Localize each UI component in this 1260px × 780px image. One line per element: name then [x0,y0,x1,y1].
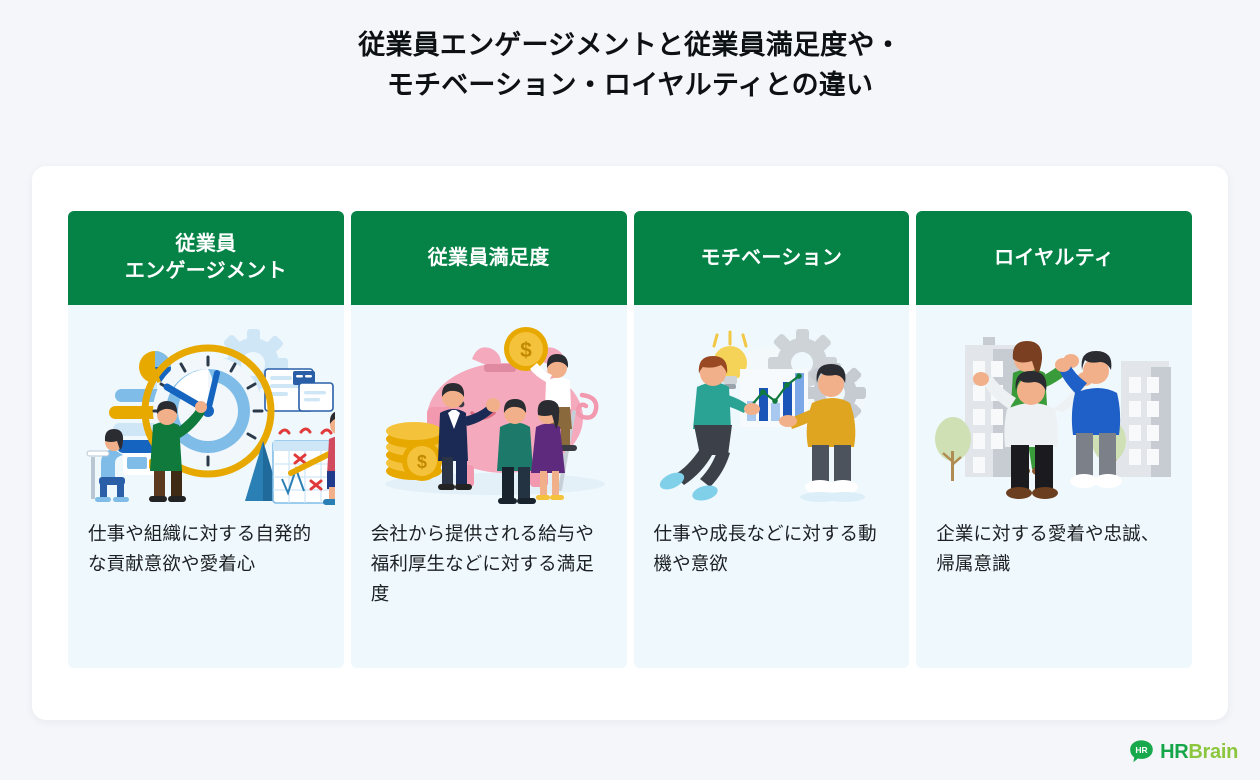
column-header-motivation: モチベーション [634,211,910,305]
svg-text:$: $ [520,339,532,362]
column-employee-satisfaction[interactable]: 従業員満足度 [351,211,627,668]
column-body-motivation: 仕事や成長などに対する動機や意欲 [634,305,910,668]
page-title-line-1: 従業員エンゲージメントと従業員満足度や・ [0,26,1260,66]
clock-teamwork-illustration [68,305,344,517]
svg-text:HR: HR [1135,745,1147,755]
column-description-loyalty: 企業に対する愛着や忠誠、帰属意識 [916,517,1192,579]
column-motivation[interactable]: モチベーション [634,211,910,668]
logo-wordmark: HRBrain [1160,742,1238,762]
comparison-card: 従業員 エンゲージメント [32,166,1228,720]
piggy-bank-savings-illustration: $ $ [351,305,627,517]
comparison-columns: 従業員 エンゲージメント [68,211,1192,668]
column-header-employee-satisfaction: 従業員満足度 [351,211,627,305]
page-title: 従業員エンゲージメントと従業員満足度や・ モチベーション・ロイヤルティとの違い [0,0,1260,106]
column-description-motivation: 仕事や成長などに対する動機や意欲 [634,517,910,579]
company-highfive-illustration [916,305,1192,517]
column-body-loyalty: 企業に対する愛着や忠誠、帰属意識 [916,305,1192,668]
page-title-line-2: モチベーション・ロイヤルティとの違い [0,66,1260,106]
column-employee-engagement[interactable]: 従業員 エンゲージメント [68,211,344,668]
column-body-employee-satisfaction: $ $ [351,305,627,668]
column-loyalty[interactable]: ロイヤルティ [916,211,1192,668]
speech-bubble-icon: HR [1129,739,1154,764]
column-description-employee-engagement: 仕事や組織に対する自発的な貢献意欲や愛着心 [68,517,344,579]
column-header-employee-engagement: 従業員 エンゲージメント [68,211,344,305]
column-description-employee-satisfaction: 会社から提供される給与や福利厚生などに対する満足度 [351,517,627,609]
svg-text:$: $ [417,452,427,472]
column-body-employee-engagement: 仕事や組織に対する自発的な貢献意欲や愛着心 [68,305,344,668]
column-header-loyalty: ロイヤルティ [916,211,1192,305]
logo-word-brain: Brain [1188,741,1238,763]
logo-word-hr: HR [1160,741,1188,763]
hrbrain-logo[interactable]: HR HRBrain [1129,739,1238,764]
idea-growth-chart-illustration [634,305,910,517]
